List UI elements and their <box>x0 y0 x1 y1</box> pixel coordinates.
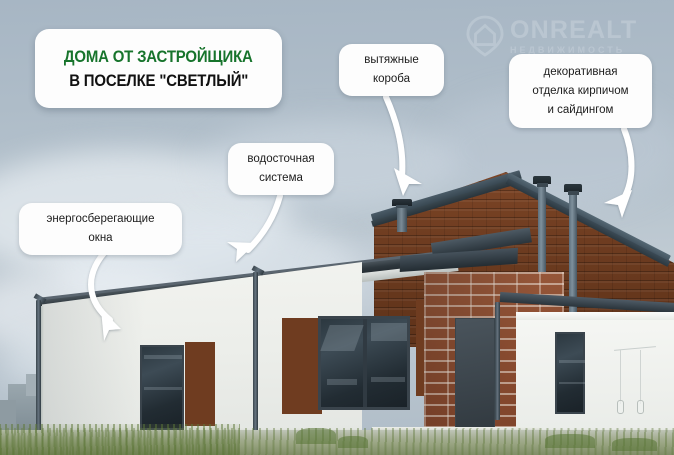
cable-clip <box>637 400 644 414</box>
grass-patch <box>338 436 368 448</box>
callout-energy-windows: энергосберегающие окна <box>19 203 182 255</box>
callout-windows-line-1: энергосберегающие <box>47 210 155 229</box>
callout-drainage: водосточная система <box>228 143 334 195</box>
promo-image: ONREALT НЕДВИЖИМОСТЬ <box>0 0 674 455</box>
callout-vent-line-1: вытяжные <box>364 51 419 70</box>
wood-siding-panel <box>185 342 215 426</box>
callout-decor-line-3: и сайдингом <box>548 101 614 120</box>
grass-patch <box>545 434 595 448</box>
downpipe <box>495 302 500 420</box>
callout-decorative-finish: декоративная отделка кирпичом и сайдинго… <box>509 54 652 128</box>
wood-siding-panel <box>416 300 424 396</box>
hanging-cable <box>620 350 621 404</box>
window-center <box>318 316 410 410</box>
wood-siding-panel <box>282 318 322 414</box>
window-right <box>555 332 585 414</box>
title-line-1: ДОМА ОТ ЗАСТРОЙЩИКА <box>64 47 253 67</box>
callout-vent-line-2: короба <box>373 70 410 89</box>
title-line-2: В ПОСЕЛКЕ "СВЕТЛЫЙ" <box>69 71 248 91</box>
title-callout: ДОМА ОТ ЗАСТРОЙЩИКА В ПОСЕЛКЕ "СВЕТЛЫЙ" <box>35 29 282 108</box>
callout-vent-boxes: вытяжные короба <box>339 44 444 96</box>
grass-patch <box>612 438 657 451</box>
window-left <box>140 345 184 430</box>
cable-clip <box>617 400 624 414</box>
grass-patch <box>296 428 336 444</box>
hanging-cable <box>640 350 641 404</box>
callout-drainage-line-2: система <box>259 169 303 188</box>
callout-decor-line-1: декоративная <box>544 63 618 82</box>
callout-decor-line-2: отделка кирпичом <box>532 82 628 101</box>
callout-windows-line-2: окна <box>88 229 112 248</box>
grass-left <box>0 424 240 455</box>
callout-drainage-line-1: водосточная <box>247 150 314 169</box>
